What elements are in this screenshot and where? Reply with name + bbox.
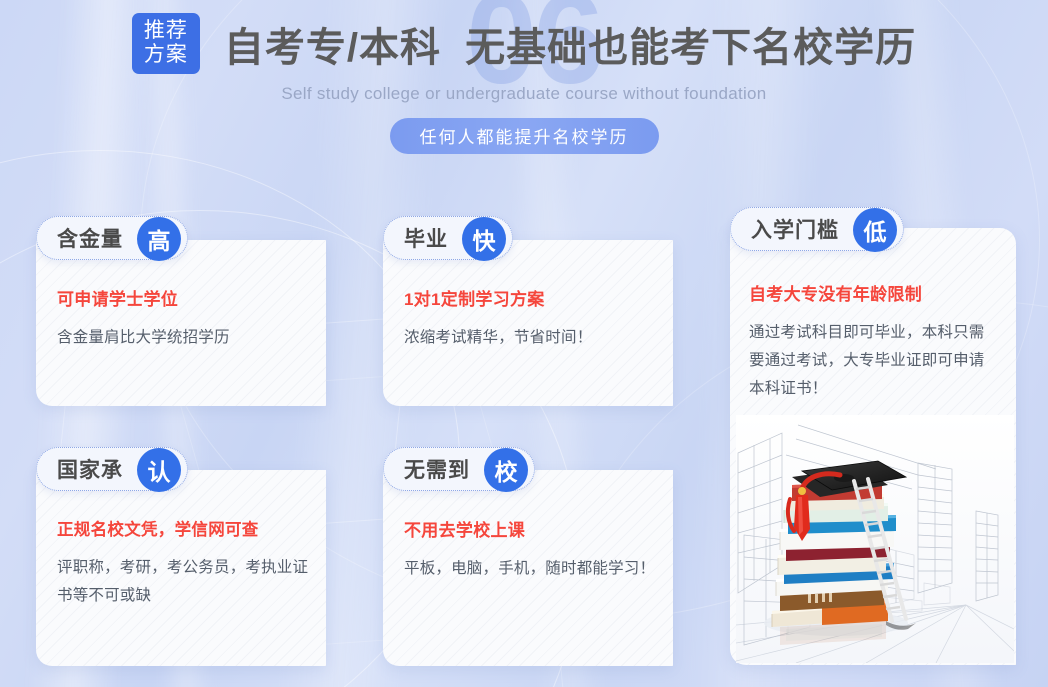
- feature-tab-mark: 快: [462, 217, 506, 261]
- feature-card-body: 不用去学校上课 平板，电脑，手机，随时都能学习！: [404, 516, 656, 583]
- feature-card-tab: 国家承 认: [36, 447, 188, 491]
- feature-tab-label: 含金量: [57, 223, 123, 253]
- feature-tab-label: 入学门槛: [751, 214, 839, 244]
- feature-desc-text: 平板，电脑，手机，随时都能学习！: [404, 555, 656, 583]
- title-row: 推荐 方案 自考专/本科 无基础也能考下名校学历: [0, 13, 1048, 74]
- feature-card-body: 1对1定制学习方案 浓缩考试精华，节省时间！: [404, 285, 656, 352]
- feature-lead-text: 1对1定制学习方案: [404, 285, 656, 310]
- graduation-books-ladder-icon: [736, 415, 1014, 663]
- feature-lead-text: 可申请学士学位: [57, 285, 309, 310]
- page-subtitle: Self study college or undergraduate cour…: [0, 84, 1048, 104]
- tagline-pill: 任何人都能提升名校学历: [390, 118, 659, 154]
- feature-desc-text: 评职称，考研，考公务员，考执业证书等不可或缺: [57, 554, 319, 610]
- feature-card-tab: 毕业 快: [383, 216, 513, 260]
- feature-lead-text: 正规名校文凭，学信网可查: [57, 516, 319, 540]
- feature-tab-label: 无需到: [404, 454, 470, 484]
- feature-tab-mark: 低: [853, 208, 897, 252]
- feature-tab-label: 毕业: [404, 223, 448, 253]
- page-title: 自考专/本科 无基础也能考下名校学历: [224, 15, 916, 73]
- feature-tab-mark: 认: [137, 448, 181, 492]
- feature-tab-mark: 高: [137, 217, 181, 261]
- feature-card-tab: 入学门槛 低: [730, 207, 904, 251]
- feature-desc-text: 通过考试科目即可毕业，本科只需要通过考试，大专毕业证即可申请本科证书！: [749, 319, 997, 403]
- page-header: 推荐 方案 自考专/本科 无基础也能考下名校学历 Self study coll…: [0, 0, 1048, 154]
- feature-tab-mark: 校: [484, 448, 528, 492]
- feature-card-tab: 无需到 校: [383, 447, 535, 491]
- feature-card-body: 自考大专没有年龄限制 通过考试科目即可毕业，本科只需要通过考试，大专毕业证即可申…: [749, 280, 997, 403]
- recommend-badge: 推荐 方案: [132, 13, 200, 74]
- feature-lead-text: 不用去学校上课: [404, 516, 656, 541]
- feature-desc-text: 浓缩考试精华，节省时间！: [404, 324, 656, 352]
- feature-desc-text: 含金量肩比大学统招学历: [57, 324, 309, 352]
- feature-lead-text: 自考大专没有年龄限制: [749, 280, 997, 305]
- feature-card-body: 可申请学士学位 含金量肩比大学统招学历: [57, 285, 309, 352]
- feature-card-tab: 含金量 高: [36, 216, 188, 260]
- feature-card-body: 正规名校文凭，学信网可查 评职称，考研，考公务员，考执业证书等不可或缺: [57, 516, 319, 610]
- feature-tab-label: 国家承: [57, 454, 123, 484]
